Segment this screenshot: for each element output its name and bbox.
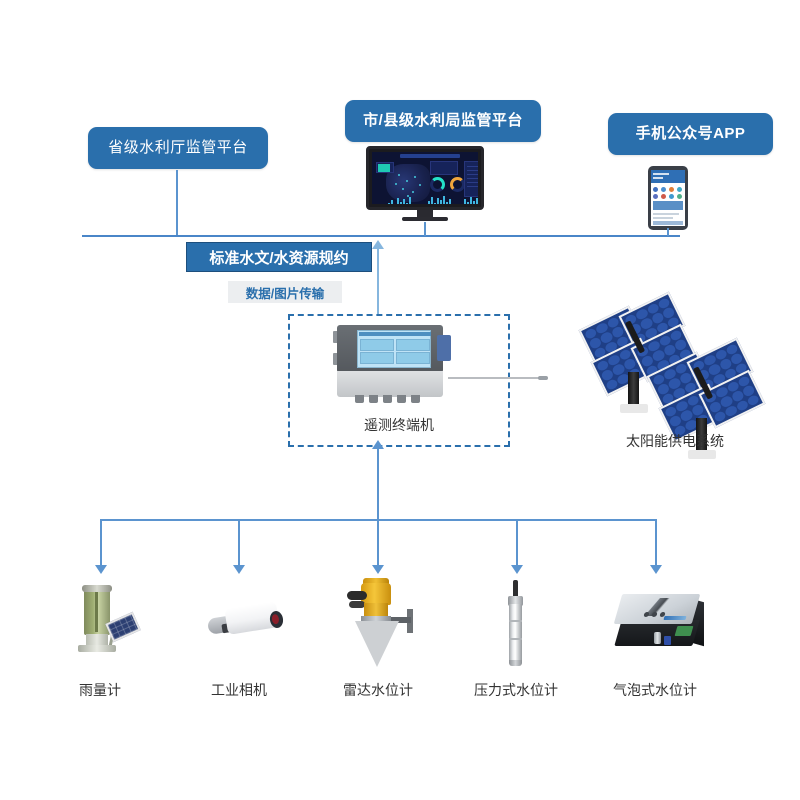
sensor-arrow-2-icon: [233, 565, 245, 574]
dashboard-title-bar: [400, 154, 460, 158]
solar-power-system-label: 太阳能供电系统: [580, 431, 770, 451]
industrial-camera-icon: [200, 595, 295, 655]
bubble-water-level-icon: [608, 588, 708, 658]
top-network-bus-line: [82, 235, 680, 237]
phone-screen: [651, 170, 685, 226]
app-list-row: [653, 221, 683, 225]
donut-chart-2: [450, 177, 465, 192]
app-header: [651, 170, 685, 183]
phone-body: [648, 166, 688, 230]
sensor-label-bubble-water-level: 气泡式水位计: [590, 680, 720, 700]
monitor-screen: [372, 152, 478, 204]
terminal-lower-housing: [337, 371, 443, 397]
protocol-secondary-label: 数据/图片传输: [228, 281, 342, 303]
sensor-arrow-4-icon: [511, 565, 523, 574]
monitor-base: [402, 217, 448, 221]
monitor-neck: [417, 210, 433, 217]
uplink-line: [377, 248, 379, 314]
connector-city-county: [424, 222, 426, 236]
sensor-leg-1: [100, 519, 102, 567]
telemetry-terminal-device: [333, 325, 451, 403]
platform-provincial-button[interactable]: 省级水利厅监管平台: [88, 127, 268, 169]
monitor-display: [366, 146, 484, 222]
stat-panel-top: [430, 161, 458, 175]
monitor-bezel: [366, 146, 484, 210]
bar-chart-mid: [428, 195, 451, 204]
terminal-screen: [357, 330, 431, 368]
sensor-arrow-1-icon: [95, 565, 107, 574]
sensor-label-rain-gauge: 雨量计: [35, 680, 165, 700]
downlink-trunk-line: [377, 447, 379, 520]
app-icon-grid: [653, 187, 683, 199]
sensor-arrow-5-icon: [650, 565, 662, 574]
smartphone-display: [648, 166, 688, 230]
bar-chart-left: [388, 195, 411, 204]
kpi-panel: [376, 162, 394, 173]
terminal-connector-port: [437, 335, 451, 361]
downlink-arrow-icon: [372, 440, 384, 449]
antenna-icon: [448, 376, 548, 380]
terminal-upper-housing: [337, 325, 443, 373]
sensor-leg-5: [655, 519, 657, 567]
connector-provincial: [176, 170, 178, 235]
platform-city-county-button[interactable]: 市/县级水利局监管平台: [345, 100, 541, 142]
donut-chart-1: [430, 177, 445, 192]
connector-mobile-app: [667, 228, 669, 236]
sensor-label-pressure-water-level: 压力式水位计: [451, 680, 581, 700]
diagram-canvas: 省级水利厅监管平台 市/县级水利局监管平台 手机公众号APP: [0, 0, 800, 800]
radar-water-level-icon: [335, 573, 425, 673]
sensor-label-radar-water-level: 雷达水位计: [313, 680, 443, 700]
terminal-label: 遥测终端机: [288, 415, 510, 435]
sensor-label-industrial-camera: 工业相机: [174, 680, 304, 700]
terminal-screen-titlebar: [359, 332, 431, 336]
sensor-leg-3: [377, 519, 379, 567]
app-banner: [653, 201, 683, 210]
sensor-leg-4: [516, 519, 518, 567]
uplink-arrow-icon: [372, 240, 384, 249]
protocol-primary-label: 标准水文/水资源规约: [186, 242, 372, 272]
pressure-water-level-icon: [478, 580, 554, 670]
rain-gauge-icon: [62, 585, 152, 657]
bar-chart-right: [464, 195, 478, 204]
platform-mobile-app-button[interactable]: 手机公众号APP: [608, 113, 773, 155]
sensor-leg-2: [238, 519, 240, 567]
data-table-panel: [464, 161, 478, 197]
